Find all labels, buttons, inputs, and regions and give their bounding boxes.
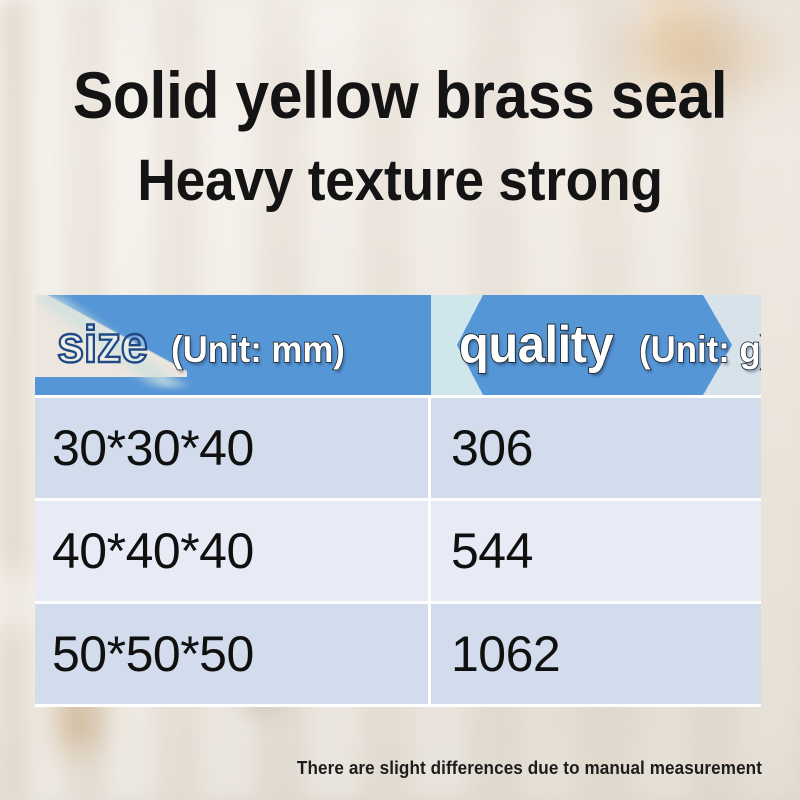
table-header-row: size (Unit: mm) quality (Unit: g) — [35, 295, 761, 395]
table-body: 30*30*40 306 40*40*40 544 50*50*50 1062 — [35, 395, 761, 707]
table-row: 50*50*50 1062 — [35, 601, 761, 704]
cell-quality: 306 — [431, 398, 761, 498]
cell-size: 30*30*40 — [35, 398, 431, 498]
page-subtitle: Heavy texture strong — [32, 128, 768, 210]
header-label-group-quality: quality (Unit: g) — [431, 315, 761, 375]
header-label-size: size — [57, 315, 148, 375]
specification-table: size (Unit: mm) quality (Unit: g) 30*30*… — [35, 295, 761, 707]
cell-quality: 544 — [431, 501, 761, 601]
header-unit-size: (Unit: mm) — [171, 329, 345, 371]
header-label-quality: quality — [459, 315, 613, 375]
table-bottom-edge — [35, 704, 761, 707]
page-title: Solid yellow brass seal — [32, 0, 768, 128]
cell-size: 40*40*40 — [35, 501, 431, 601]
measurement-disclaimer: There are slight differences due to manu… — [38, 758, 762, 779]
cell-size: 50*50*50 — [35, 604, 431, 704]
heading-block: Solid yellow brass seal Heavy texture st… — [0, 0, 800, 210]
product-spec-banner: Solid yellow brass seal Heavy texture st… — [0, 0, 800, 800]
header-label-group-size: size (Unit: mm) — [35, 315, 356, 375]
table-row: 30*30*40 306 — [35, 395, 761, 498]
header-unit-quality: (Unit: g) — [639, 329, 761, 371]
cell-quality: 1062 — [431, 604, 761, 704]
table-row: 40*40*40 544 — [35, 498, 761, 601]
table-header-cell-size: size (Unit: mm) — [35, 295, 431, 395]
table-header-cell-quality: quality (Unit: g) — [431, 295, 761, 395]
